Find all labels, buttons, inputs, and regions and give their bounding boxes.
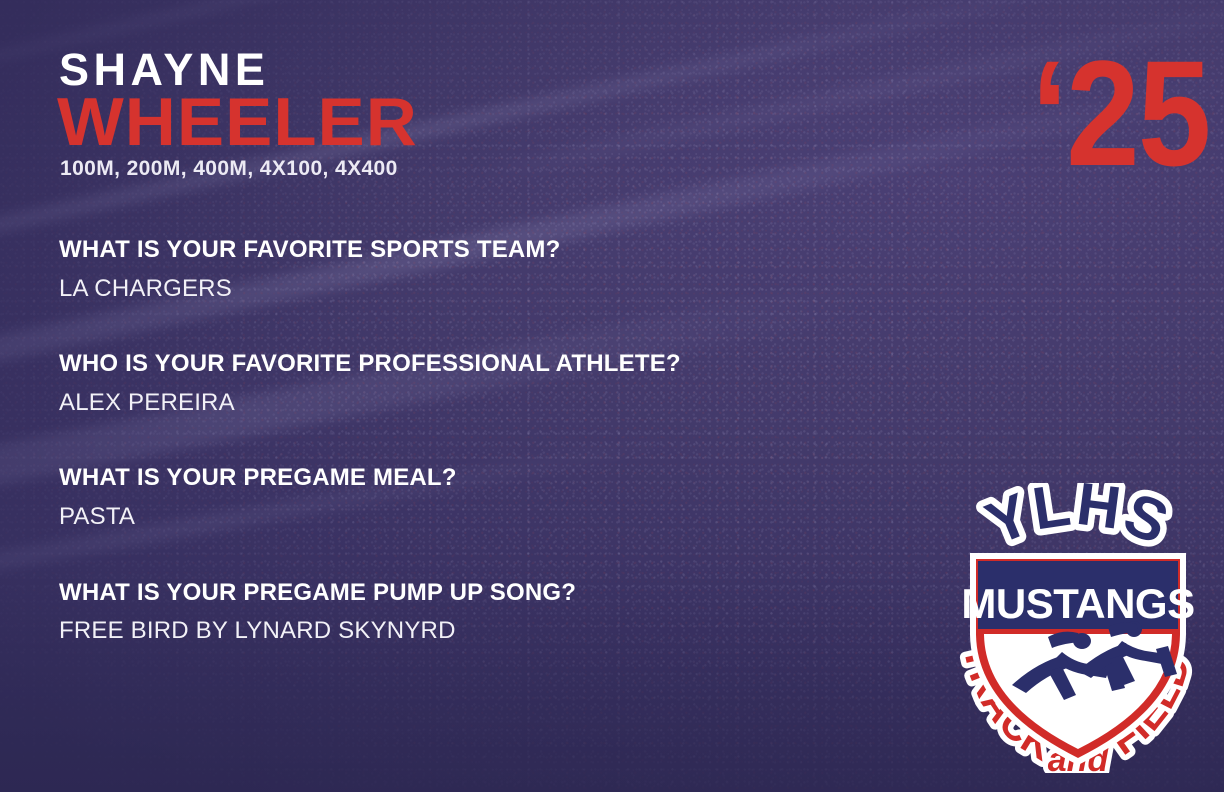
class-year-badge: ‘25 [1032, 38, 1210, 188]
qa-question: WHAT IS YOUR PREGAME MEAL? [59, 464, 819, 492]
logo-mascot-text: MUSTANGS [961, 580, 1194, 627]
qa-item: WHAT IS YOUR FAVORITE SPORTS TEAM? LA CH… [59, 236, 819, 302]
qa-question: WHO IS YOUR FAVORITE PROFESSIONAL ATHLET… [59, 350, 819, 378]
qa-question: WHAT IS YOUR PREGAME PUMP UP SONG? [59, 579, 819, 607]
svg-text:YLHS: YLHS [977, 483, 1179, 557]
qa-item: WHAT IS YOUR PREGAME MEAL? PASTA [59, 464, 819, 530]
qa-answer: ALEX PEREIRA [59, 389, 819, 417]
qa-list: WHAT IS YOUR FAVORITE SPORTS TEAM? LA CH… [59, 236, 819, 645]
qa-answer: PASTA [59, 503, 819, 531]
qa-answer: LA CHARGERS [59, 275, 819, 303]
qa-item: WHAT IS YOUR PREGAME PUMP UP SONG? FREE … [59, 579, 819, 645]
qa-question: WHAT IS YOUR FAVORITE SPORTS TEAM? [59, 236, 819, 264]
qa-answer: FREE BIRD BY LYNARD SKYNYRD [59, 617, 819, 645]
athlete-profile-card: SHAYNE WHEELER 100M, 200M, 400M, 4X100, … [0, 0, 1224, 792]
team-logo: YLHS YLHS TRACK TRACK FIELD FIELD and an… [952, 483, 1204, 773]
athlete-last-name: WHEELER [57, 88, 418, 156]
athlete-events: 100M, 200M, 400M, 4X100, 4X400 [60, 158, 398, 179]
qa-item: WHO IS YOUR FAVORITE PROFESSIONAL ATHLET… [59, 350, 819, 416]
